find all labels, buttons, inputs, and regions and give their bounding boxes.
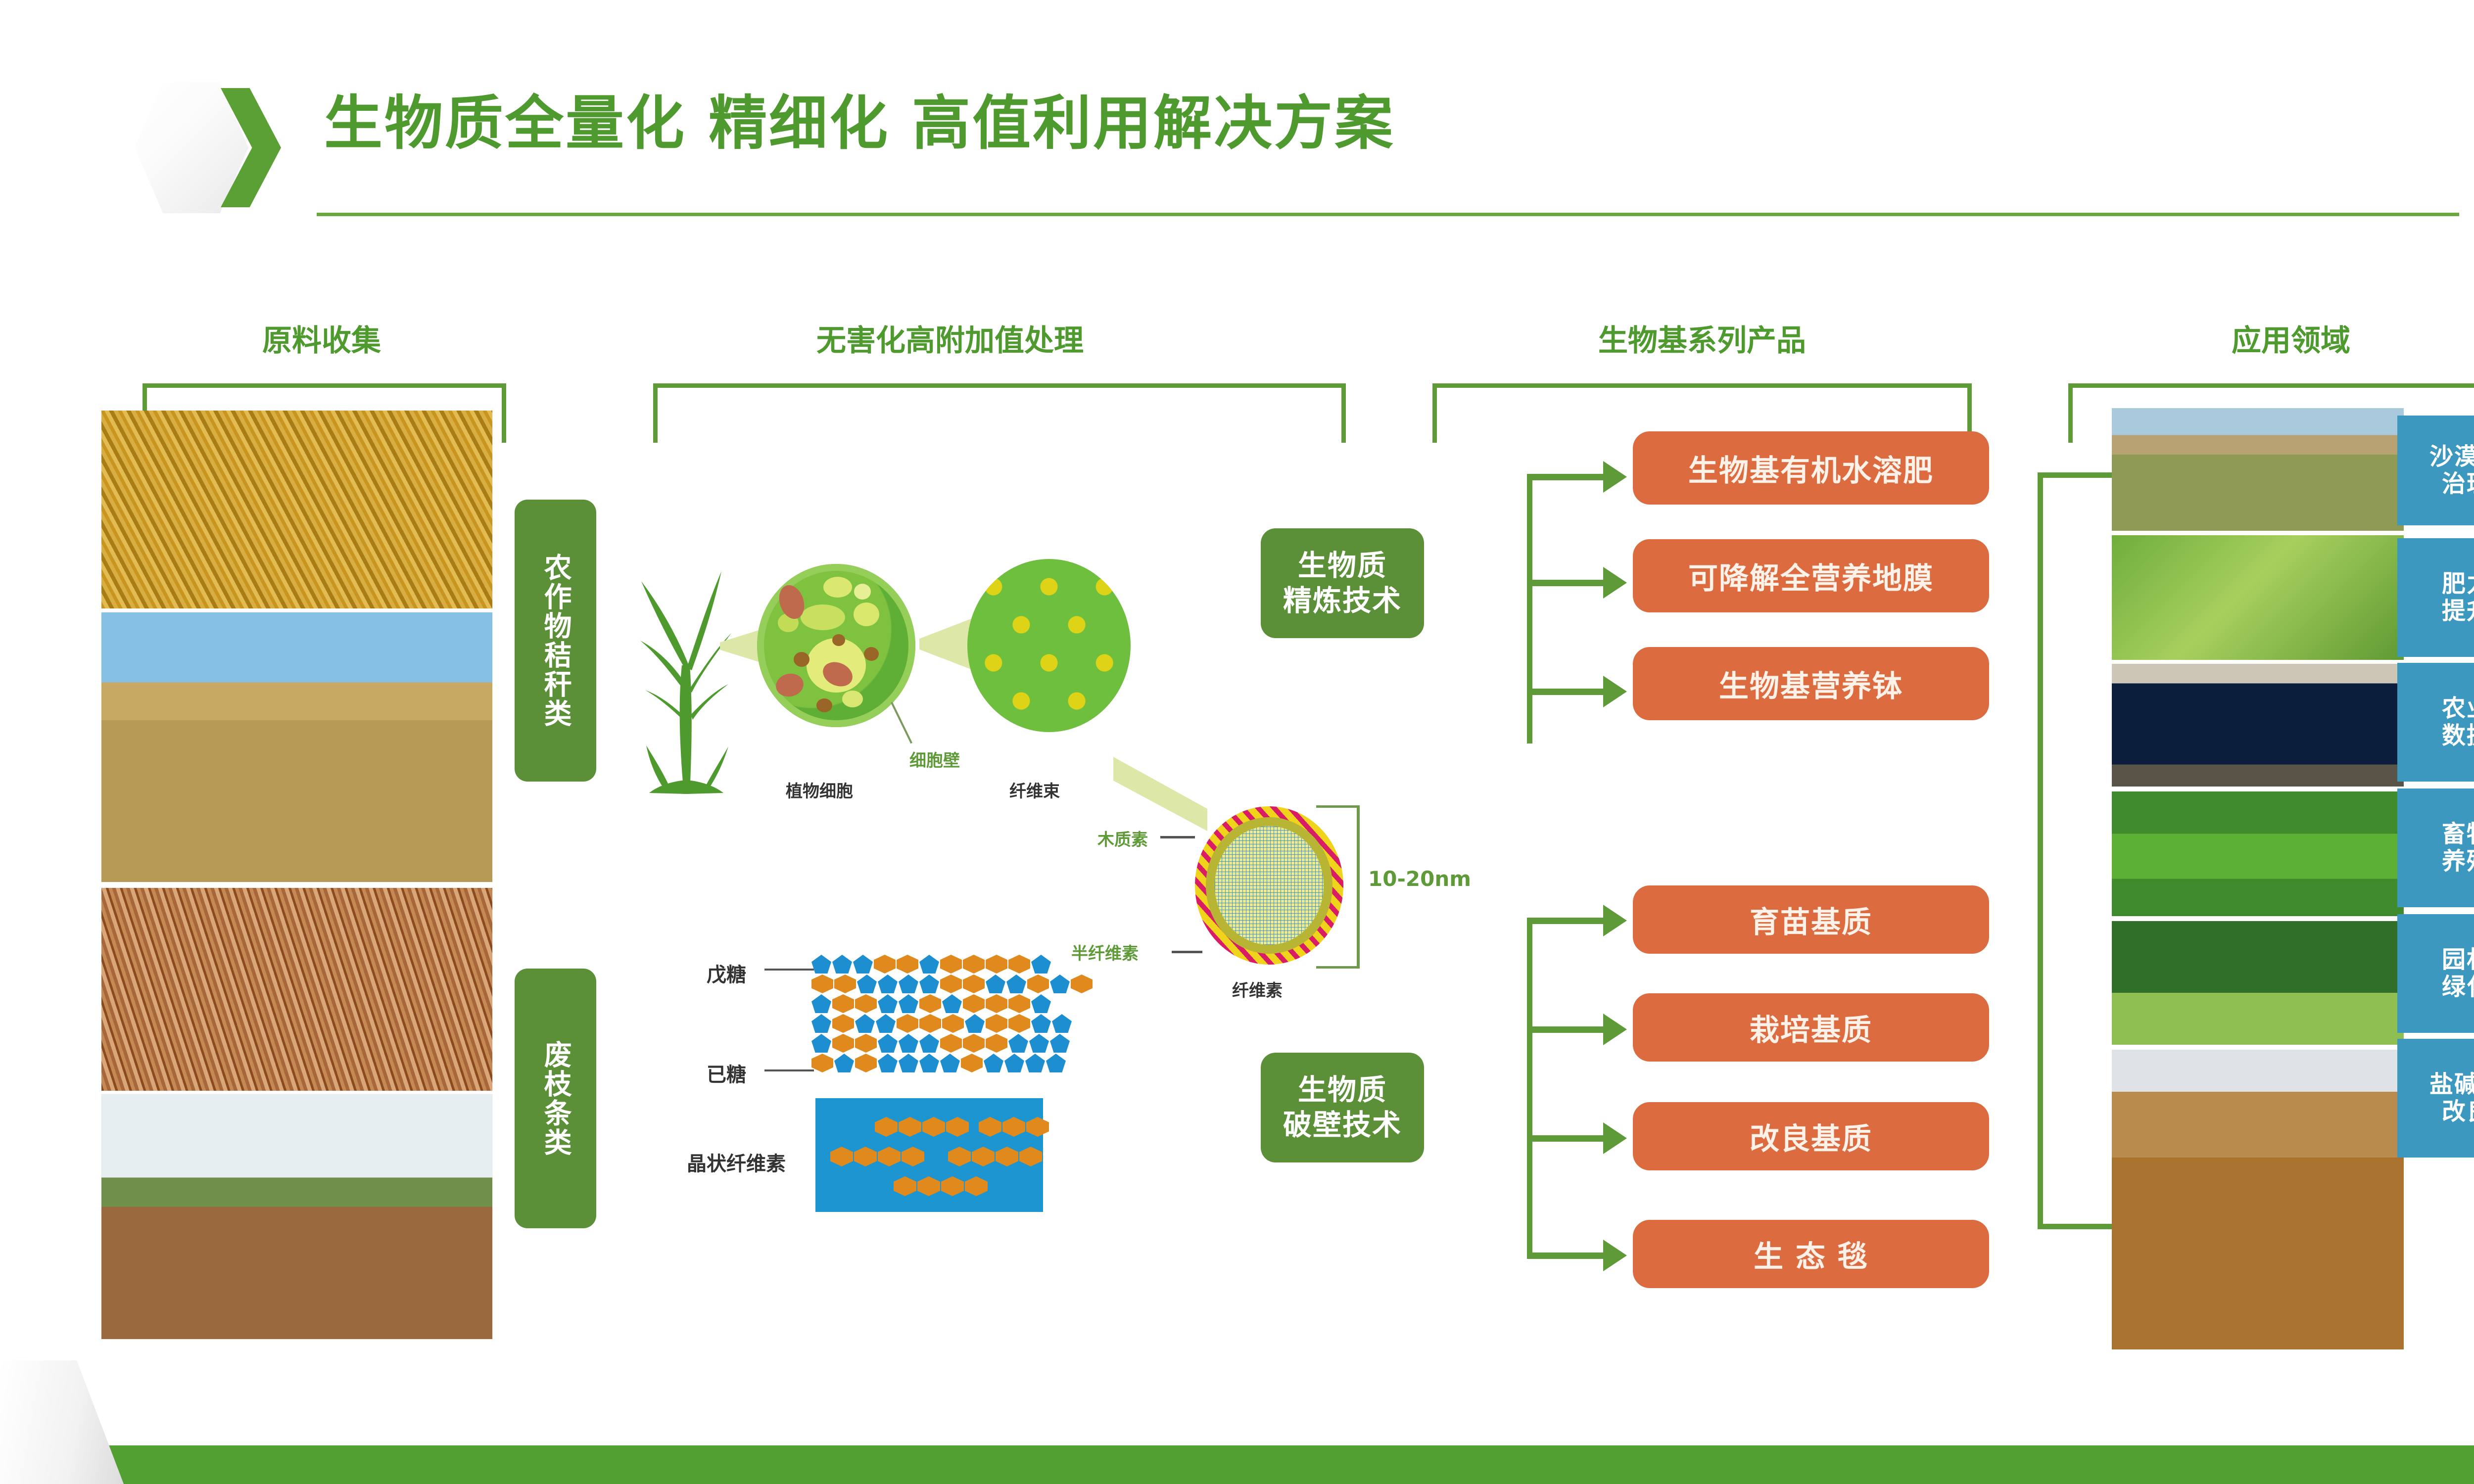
lignin-leader-line bbox=[1160, 836, 1195, 838]
cell-granule-icon-4 bbox=[816, 698, 832, 712]
pentose-unit-icon bbox=[811, 1014, 831, 1033]
pentose-unit-icon bbox=[876, 1014, 896, 1033]
application-tag-landscaping[interactable]: 园林 绿化 bbox=[2397, 914, 2474, 1033]
pentose-unit-icon bbox=[857, 974, 877, 993]
application-tag-saline-alkali[interactable]: 盐碱地 改良 bbox=[2397, 1039, 2474, 1158]
pentose-unit-icon bbox=[919, 1034, 939, 1053]
glucose-unit-icon bbox=[894, 1176, 916, 1196]
photo-desertification-control bbox=[2112, 408, 2404, 531]
product-label: 栽培基质 bbox=[1750, 1006, 1872, 1049]
fiber-bundle-shape-icon bbox=[967, 559, 1131, 732]
hexose-unit-icon bbox=[986, 1034, 1007, 1053]
pentose-unit-icon bbox=[811, 1034, 831, 1053]
application-label: 园林 绿化 bbox=[2442, 946, 2474, 1000]
cell-vesicle-top-icon bbox=[823, 577, 852, 598]
pentose-unit-icon bbox=[1006, 974, 1026, 993]
photo-sheep-grazing bbox=[2112, 791, 2404, 916]
pentose-unit-icon bbox=[1031, 994, 1051, 1013]
plant-grass-icon bbox=[634, 542, 738, 794]
cell-vacuole-icon bbox=[801, 604, 845, 630]
pentose-unit-icon bbox=[855, 1014, 875, 1033]
arrow-branch-bottom-3 bbox=[1527, 1135, 1606, 1142]
label-hexose: 已糖 bbox=[707, 1059, 746, 1087]
hexagon-logo bbox=[135, 82, 278, 213]
product-box-biodegradable-mulch-film[interactable]: 可降解全营养地膜 bbox=[1633, 539, 1989, 612]
pentose-unit-icon bbox=[986, 974, 1005, 993]
pentose-unit-icon bbox=[834, 1054, 854, 1072]
glucose-unit-icon bbox=[922, 1117, 945, 1137]
application-label: 肥力 提升 bbox=[2442, 570, 2474, 624]
hexose-unit-icon bbox=[811, 974, 833, 993]
pentose-unit-icon bbox=[1050, 1034, 1070, 1053]
pentose-unit-icon bbox=[1025, 1054, 1045, 1072]
hemicellulose-leader-line bbox=[1172, 951, 1202, 953]
hexose-unit-icon bbox=[986, 1014, 1007, 1033]
pentose-unit-icon bbox=[919, 974, 939, 993]
page-title: 生物质全量化 精细化 高值利用解决方案 bbox=[324, 94, 1395, 152]
pentose-unit-icon bbox=[940, 1054, 960, 1072]
cell-granule-icon-3 bbox=[832, 634, 845, 646]
pentose-unit-icon bbox=[832, 955, 852, 974]
product-box-nutrient-pot[interactable]: 生物基营养钵 bbox=[1633, 647, 1989, 720]
arrow-trunk-bottom bbox=[1527, 918, 1532, 1259]
glucose-unit-icon bbox=[946, 1117, 969, 1137]
arrow-branch-bottom-2 bbox=[1527, 1026, 1606, 1033]
cellulose-core-icon bbox=[1215, 826, 1324, 945]
category-tag-crop-straw-label: 农作物秸秆类 bbox=[541, 553, 570, 728]
section-header-raw-collection: 原料收集 bbox=[148, 317, 495, 360]
arrow-branch-bottom-1 bbox=[1527, 918, 1606, 924]
tech-box-cell-wall-breaking[interactable]: 生物质 破壁技术 bbox=[1261, 1053, 1424, 1162]
glucose-unit-icon bbox=[979, 1117, 1001, 1137]
label-pentose: 戊糖 bbox=[707, 959, 746, 987]
glucose-unit-icon bbox=[948, 1147, 971, 1166]
pentose-unit-icon bbox=[1029, 1034, 1049, 1053]
hexose-unit-icon bbox=[1008, 994, 1030, 1013]
cell-vesicle-icon bbox=[854, 603, 879, 626]
glucose-unit-icon bbox=[917, 1176, 940, 1196]
pentose-unit-icon bbox=[1031, 955, 1051, 974]
glucose-unit-icon bbox=[902, 1147, 924, 1166]
arrow-branch-top-2 bbox=[1527, 580, 1606, 586]
pentose-unit-icon bbox=[878, 994, 898, 1013]
glucose-unit-icon bbox=[996, 1147, 1018, 1166]
hexose-unit-icon bbox=[897, 1014, 918, 1033]
hexose-unit-icon bbox=[919, 994, 941, 1013]
section-header-applications: 应用领域 bbox=[2073, 317, 2474, 360]
pentose-unit-icon bbox=[899, 974, 918, 993]
label-plant-cell: 植物细胞 bbox=[786, 778, 853, 802]
photo-straw-bale-field bbox=[101, 612, 492, 882]
photo-dry-branches bbox=[101, 888, 492, 1091]
glucose-unit-icon bbox=[1002, 1117, 1025, 1137]
hexose-unit-icon bbox=[832, 1014, 854, 1033]
hexose-unit-icon bbox=[963, 994, 985, 1013]
product-label: 生物基有机水溶肥 bbox=[1688, 447, 1934, 490]
hexose-unit-icon bbox=[832, 1034, 854, 1053]
pentose-unit-icon bbox=[853, 955, 873, 974]
glucose-unit-icon bbox=[965, 1176, 988, 1196]
arrow-head-bottom-2 bbox=[1603, 1014, 1627, 1045]
hexose-unit-icon bbox=[963, 955, 985, 974]
product-label: 可降解全营养地膜 bbox=[1688, 555, 1934, 598]
pentose-unit-icon bbox=[919, 1054, 939, 1072]
product-box-improvement-substrate[interactable]: 改良基质 bbox=[1633, 1102, 1989, 1170]
arrow-branch-top-3 bbox=[1527, 689, 1606, 695]
pentose-unit-icon bbox=[899, 1034, 918, 1053]
scale-tick-top bbox=[1316, 805, 1359, 808]
application-label: 沙漠化 治理 bbox=[2429, 443, 2474, 497]
cell-vesicle-small-icon bbox=[854, 584, 871, 600]
pentose-unit-icon bbox=[1004, 1054, 1024, 1072]
fiber-bundle-diagram bbox=[967, 559, 1131, 732]
cellulose-cross-section-diagram bbox=[1195, 806, 1343, 965]
photo-saline-alkali-land bbox=[2112, 1050, 2404, 1349]
application-label: 农业 数据 bbox=[2442, 695, 2474, 749]
hexose-unit-icon bbox=[986, 955, 1007, 974]
cell-granule-icon-2 bbox=[864, 647, 879, 661]
label-cellulose: 纤维素 bbox=[1232, 977, 1283, 1001]
arrow-head-bottom-3 bbox=[1603, 1122, 1627, 1154]
pentose-unit-icon bbox=[811, 955, 831, 974]
hexose-unit-icon bbox=[963, 1034, 985, 1053]
glucose-unit-icon bbox=[972, 1147, 995, 1166]
hexose-unit-icon bbox=[963, 974, 985, 993]
photo-corn-straw-pile bbox=[101, 411, 492, 608]
glucose-unit-icon bbox=[1019, 1147, 1042, 1166]
footer-bar bbox=[0, 1445, 2474, 1484]
zoom-beam-3 bbox=[1113, 757, 1207, 831]
category-tag-crop-straw: 农作物秸秆类 bbox=[515, 500, 596, 782]
cell-vesicle-bottom-icon bbox=[842, 691, 863, 707]
photo-data-control-room bbox=[2112, 664, 2404, 787]
hexose-unit-icon bbox=[897, 955, 918, 974]
product-box-seedling-substrate[interactable]: 育苗基质 bbox=[1633, 885, 1989, 954]
title-underline bbox=[317, 213, 2459, 216]
pentose-unit-icon bbox=[878, 974, 898, 993]
glucose-unit-icon bbox=[878, 1147, 901, 1166]
glucose-unit-icon bbox=[875, 1117, 898, 1137]
label-crystalline-cellulose: 晶状纤维素 bbox=[687, 1148, 786, 1176]
tech-box-cell-wall-breaking-label: 生物质 破壁技术 bbox=[1283, 1072, 1402, 1143]
hexose-unit-icon bbox=[874, 955, 896, 974]
pentose-unit-icon bbox=[965, 1014, 985, 1033]
hexose-unit-icon bbox=[832, 994, 854, 1013]
hexose-unit-icon bbox=[834, 974, 856, 993]
pentose-unit-icon bbox=[1031, 1014, 1051, 1033]
label-fiber-bundle: 纤维束 bbox=[1009, 778, 1060, 802]
arrow-head-top-1 bbox=[1603, 461, 1627, 493]
hexose-unit-icon bbox=[940, 955, 962, 974]
glucose-unit-icon bbox=[830, 1147, 853, 1166]
pentose-unit-icon bbox=[919, 955, 939, 974]
crystalline-cellulose-diagram bbox=[815, 1098, 1043, 1212]
arrow-head-bottom-4 bbox=[1603, 1240, 1627, 1271]
photo-cabbage-field bbox=[2112, 535, 2404, 660]
pentose-unit-icon bbox=[1050, 974, 1070, 993]
pentose-unit-icon bbox=[942, 994, 962, 1013]
category-tag-waste-branches-label: 废枝条类 bbox=[541, 1040, 570, 1157]
hexose-unit-icon bbox=[1008, 1014, 1030, 1033]
product-box-ecological-blanket[interactable]: 生 态 毯 bbox=[1633, 1220, 1989, 1288]
product-label: 生 态 毯 bbox=[1754, 1233, 1868, 1276]
application-tag-desertification[interactable]: 沙漠化 治理 bbox=[2397, 416, 2474, 525]
pentose-leader-line bbox=[764, 969, 814, 971]
photo-vineyard-pruning bbox=[101, 1094, 492, 1339]
label-lignin: 木质素 bbox=[1097, 826, 1148, 850]
arrow-trunk-top bbox=[1527, 474, 1532, 743]
glucose-unit-icon bbox=[941, 1176, 964, 1196]
section-header-products: 生物基系列产品 bbox=[1435, 317, 1969, 360]
hexose-unit-icon bbox=[919, 1014, 941, 1033]
application-tag-livestock[interactable]: 畜牧 养殖 bbox=[2397, 788, 2474, 907]
tech-box-biomass-refining[interactable]: 生物质 精炼技术 bbox=[1261, 528, 1424, 638]
application-tag-agri-data[interactable]: 农业 数据 bbox=[2397, 663, 2474, 782]
hexose-unit-icon bbox=[986, 994, 1007, 1013]
arrow-head-top-2 bbox=[1603, 567, 1627, 599]
label-cell-wall: 细胞壁 bbox=[909, 747, 960, 771]
pentose-unit-icon bbox=[1008, 1034, 1028, 1053]
pentose-unit-icon bbox=[878, 1034, 898, 1053]
pentose-unit-icon bbox=[899, 994, 918, 1013]
hexose-unit-icon bbox=[1071, 974, 1093, 993]
pentose-unit-icon bbox=[984, 1054, 1003, 1072]
hexose-unit-icon bbox=[811, 1054, 833, 1072]
category-tag-waste-branches: 废枝条类 bbox=[515, 969, 596, 1228]
glucose-unit-icon bbox=[899, 1117, 921, 1137]
arrow-branch-top-1 bbox=[1527, 474, 1606, 480]
pentose-unit-icon bbox=[811, 994, 831, 1013]
hexose-unit-icon bbox=[942, 1014, 964, 1033]
application-tag-fertility[interactable]: 肥力 提升 bbox=[2397, 538, 2474, 657]
sugar-chain-diagram bbox=[811, 955, 1094, 1078]
hexose-leader-line bbox=[764, 1069, 814, 1071]
hexose-unit-icon bbox=[1027, 974, 1049, 993]
arrow-head-top-3 bbox=[1603, 676, 1627, 707]
pentose-unit-icon bbox=[878, 1054, 898, 1072]
application-label: 盐碱地 改良 bbox=[2429, 1071, 2474, 1125]
product-label: 生物基营养钵 bbox=[1719, 662, 1903, 705]
hexose-unit-icon bbox=[961, 1054, 983, 1072]
product-box-cultivation-substrate[interactable]: 栽培基质 bbox=[1633, 993, 1989, 1062]
hexose-unit-icon bbox=[855, 1054, 877, 1072]
scale-dimension-line bbox=[1357, 805, 1360, 969]
hexose-unit-icon bbox=[855, 994, 877, 1013]
zoom-beam-2 bbox=[919, 617, 975, 671]
arrow-head-bottom-1 bbox=[1603, 905, 1627, 936]
product-label: 改良基质 bbox=[1750, 1115, 1872, 1158]
hexose-unit-icon bbox=[940, 974, 962, 993]
arrow-branch-bottom-4 bbox=[1527, 1252, 1606, 1259]
glucose-unit-icon bbox=[854, 1147, 877, 1166]
product-label: 育苗基质 bbox=[1750, 898, 1872, 941]
bracket-processing bbox=[653, 383, 1346, 443]
photo-park-landscaping bbox=[2112, 921, 2404, 1045]
pentose-unit-icon bbox=[1046, 1054, 1066, 1072]
tech-box-biomass-refining-label: 生物质 精炼技术 bbox=[1283, 548, 1402, 618]
application-label: 畜牧 养殖 bbox=[2442, 821, 2474, 875]
scale-tick-bottom bbox=[1316, 966, 1359, 969]
footer-wedge-decoration bbox=[0, 1360, 124, 1484]
pentose-unit-icon bbox=[899, 1054, 918, 1072]
hexose-unit-icon bbox=[855, 1034, 877, 1053]
cell-granule-icon-1 bbox=[794, 652, 809, 667]
section-header-processing: 无害化高附加值处理 bbox=[658, 317, 1242, 360]
glucose-unit-icon bbox=[1026, 1117, 1049, 1137]
pentose-unit-icon bbox=[1052, 1014, 1072, 1033]
label-scale-nm: 10-20nm bbox=[1368, 867, 1471, 891]
hexose-unit-icon bbox=[1008, 955, 1030, 974]
infographic-root: 生物质全量化 精细化 高值利用解决方案 原料收集 无害化高附加值处理 生物基系列… bbox=[0, 0, 2474, 1484]
hexose-unit-icon bbox=[940, 1034, 962, 1053]
product-box-water-soluble-fertilizer[interactable]: 生物基有机水溶肥 bbox=[1633, 431, 1989, 505]
